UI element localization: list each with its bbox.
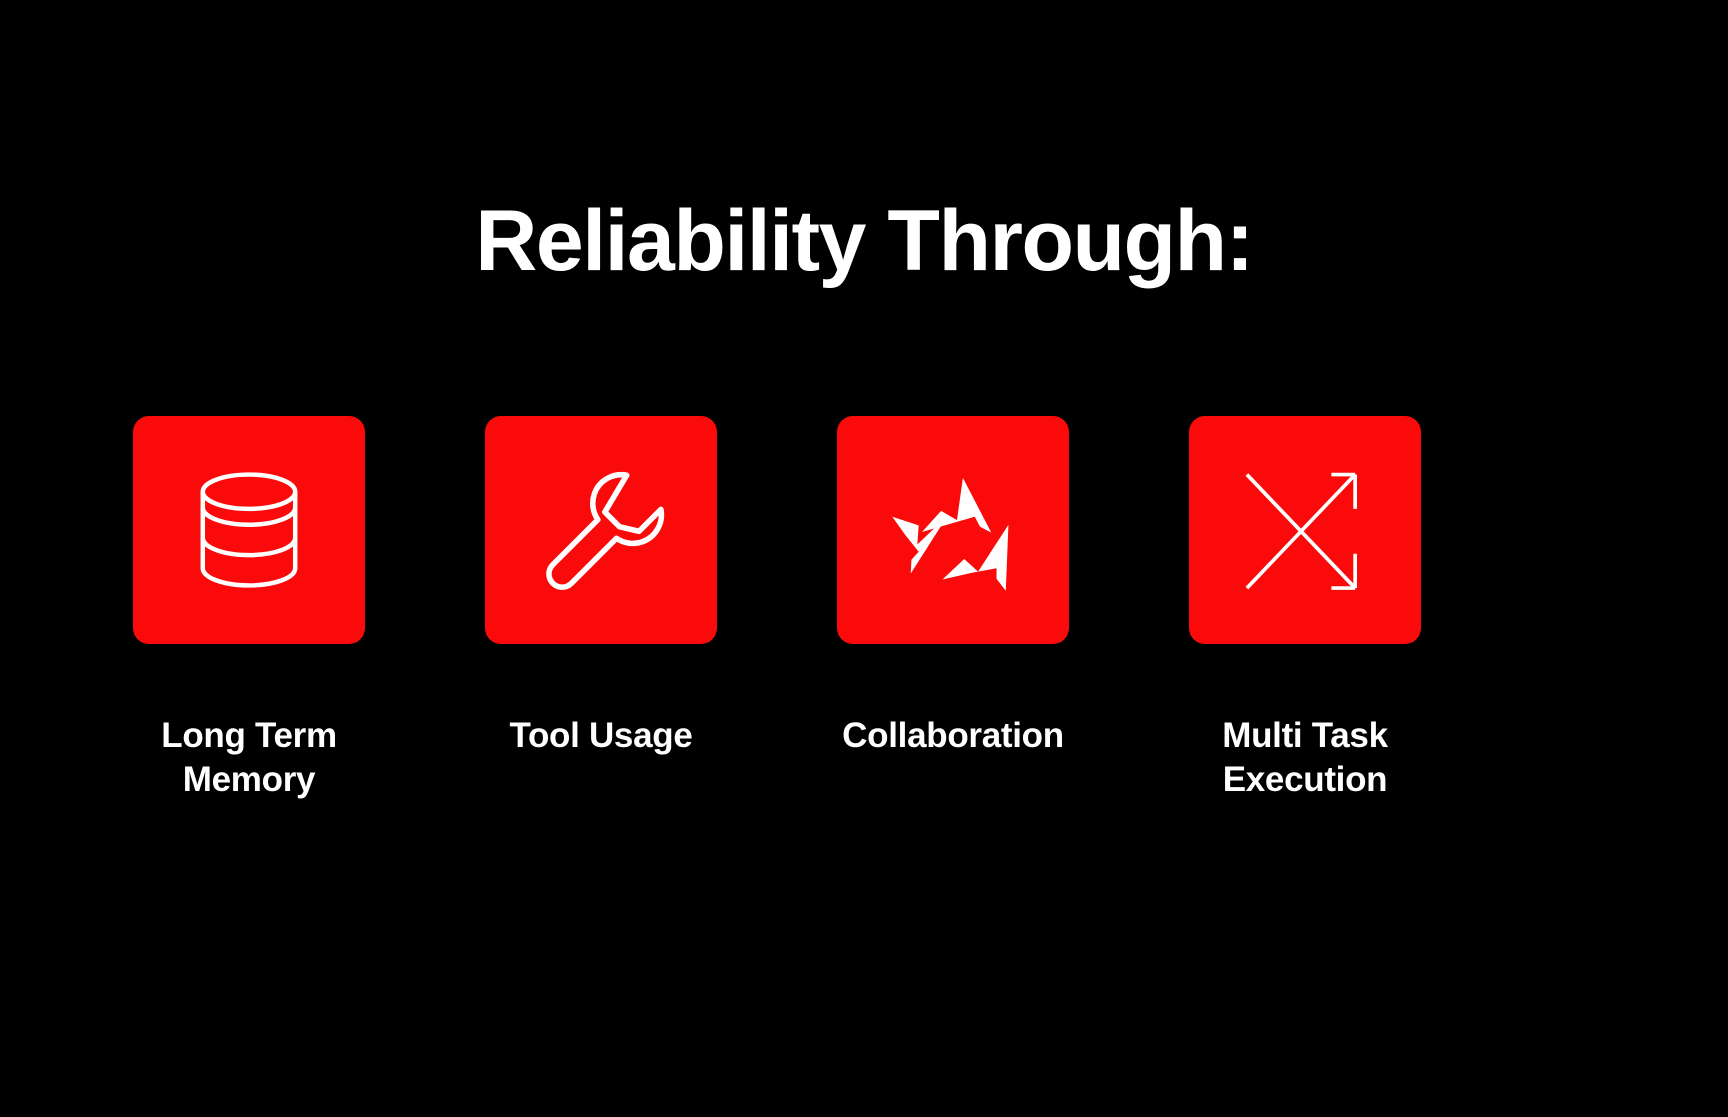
feature-card-collaboration[interactable]: Collaboration: [837, 416, 1069, 802]
feature-card-label: Long Term Memory: [161, 714, 337, 802]
feature-card-label: Collaboration: [842, 714, 1064, 758]
icon-tile[interactable]: [1189, 416, 1421, 644]
feature-card-multi-task-execution[interactable]: Multi Task Execution: [1189, 416, 1421, 802]
slide-root: Reliability Through: Long Term Memory: [0, 0, 1728, 1117]
shuffle-arrows-icon: [1239, 464, 1371, 596]
feature-card-tool-usage[interactable]: Tool Usage: [485, 416, 717, 802]
feature-card-list: Long Term Memory Tool Usage: [133, 416, 1595, 802]
page-title: Reliability Through:: [0, 196, 1728, 286]
feature-card-label: Multi Task Execution: [1222, 714, 1388, 802]
icon-tile[interactable]: [133, 416, 365, 644]
feature-card-long-term-memory[interactable]: Long Term Memory: [133, 416, 365, 802]
recycle-arrows-icon: [887, 464, 1019, 596]
icon-tile[interactable]: [837, 416, 1069, 644]
feature-card-label: Tool Usage: [509, 714, 692, 758]
database-icon: [183, 464, 315, 596]
wrench-icon: [535, 464, 667, 596]
icon-tile[interactable]: [485, 416, 717, 644]
